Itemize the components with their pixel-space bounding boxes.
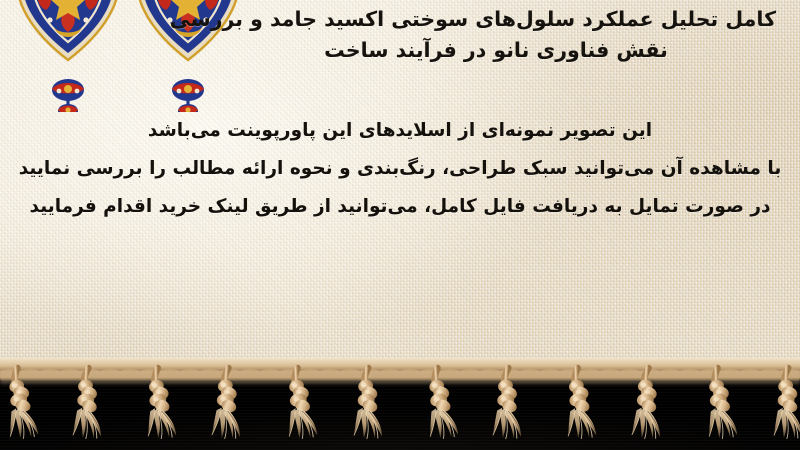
body-line-1: این تصویر نمونه‌ای از اسلایدهای این پاور… <box>18 112 782 150</box>
body-line-3: در صورت تمایل به دریافت فایل کامل، می‌تو… <box>18 188 782 226</box>
carpet-selvage-rail <box>0 363 800 380</box>
title-line-1: کامل تحلیل عملکرد سلول‌های سوختی اکسید ج… <box>216 4 776 35</box>
body-line-2: با مشاهده آن می‌توانید سبک طراحی، رنگ‌بن… <box>18 150 782 188</box>
title-line-2: نقش فناوری نانو در فرآیند ساخت <box>216 35 776 66</box>
slide-canvas: کامل تحلیل عملکرد سلول‌های سوختی اکسید ج… <box>0 0 800 450</box>
slide-title: کامل تحلیل عملکرد سلول‌های سوختی اکسید ج… <box>216 4 776 66</box>
slide-body: این تصویر نمونه‌ای از اسلایدهای این پاور… <box>18 112 782 226</box>
